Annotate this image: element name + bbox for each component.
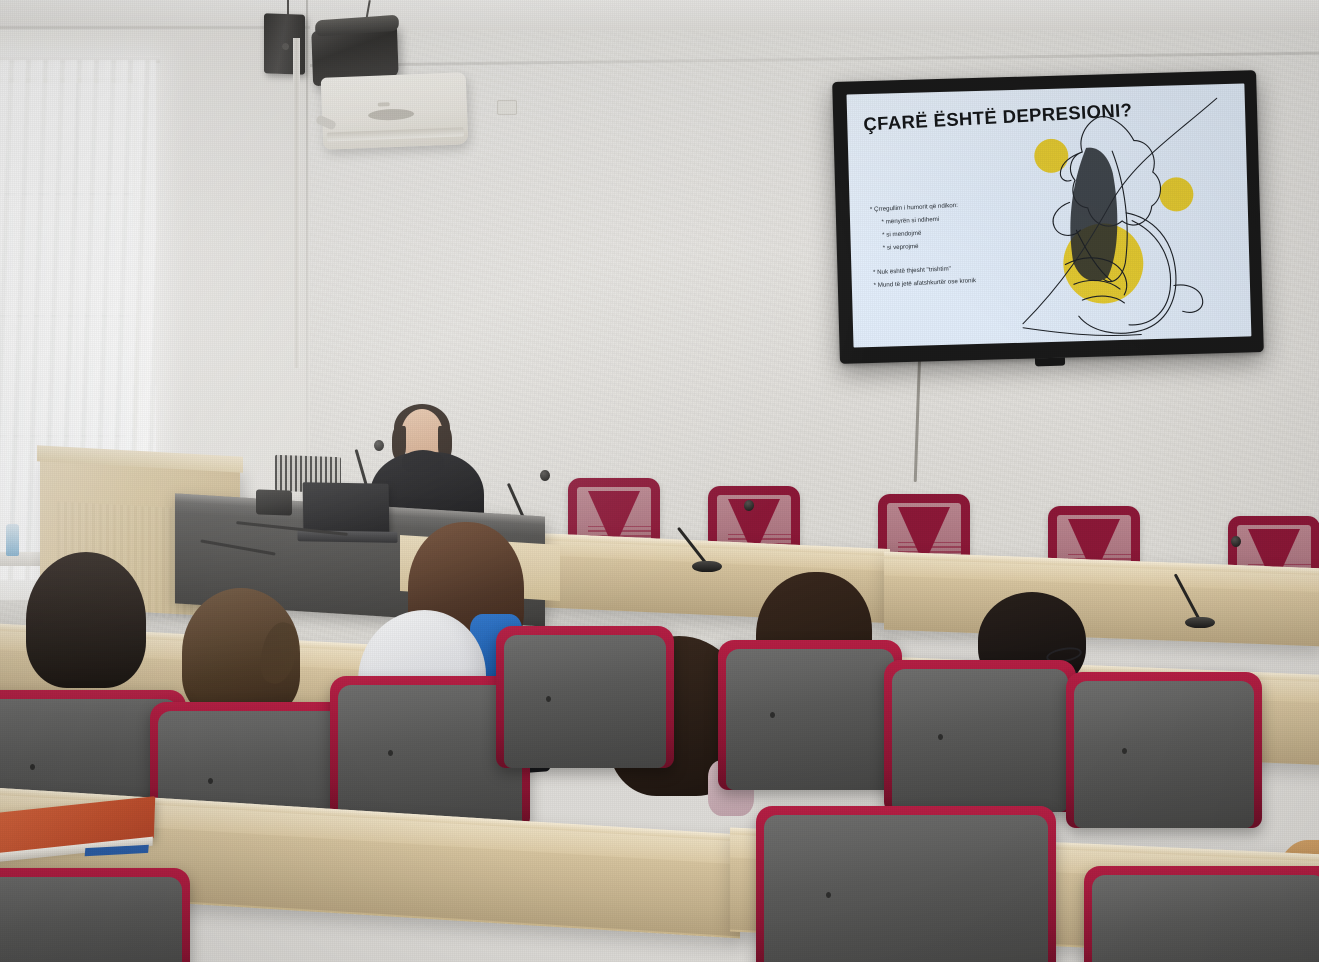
wall-mounted-tv[interactable]: ÇFARË ËSHTË DEPRESIONI? * Çrregullim i h… bbox=[832, 70, 1264, 364]
audience-seat-9[interactable] bbox=[756, 806, 1056, 962]
student-1 bbox=[26, 552, 146, 692]
sill-bottle bbox=[6, 524, 19, 556]
audience-seat-5[interactable] bbox=[718, 640, 902, 790]
microphone-2[interactable] bbox=[1185, 570, 1217, 628]
audience-seat-8[interactable] bbox=[0, 868, 190, 962]
audience-seat-6[interactable] bbox=[884, 660, 1076, 812]
wall-socket bbox=[497, 100, 517, 115]
av-equipment-secondary bbox=[256, 489, 292, 515]
slide-bullets: * Çrregullim i humorit që ndikon: * mëny… bbox=[870, 194, 1089, 294]
lecture-hall-photo: ÇFARË ËSHTË DEPRESIONI? * Çrregullim i h… bbox=[0, 0, 1319, 962]
laptop[interactable] bbox=[303, 482, 390, 534]
wall-corner bbox=[306, 0, 308, 470]
air-conditioner bbox=[321, 72, 469, 150]
microphone-1[interactable] bbox=[692, 520, 724, 572]
audience-seat-4[interactable] bbox=[496, 626, 674, 768]
audience-seat-7[interactable] bbox=[1066, 672, 1262, 828]
wall-conduit bbox=[293, 38, 300, 368]
audience-seat-10[interactable] bbox=[1084, 866, 1319, 962]
slide-screen: ÇFARË ËSHTË DEPRESIONI? * Çrregullim i h… bbox=[847, 83, 1252, 347]
